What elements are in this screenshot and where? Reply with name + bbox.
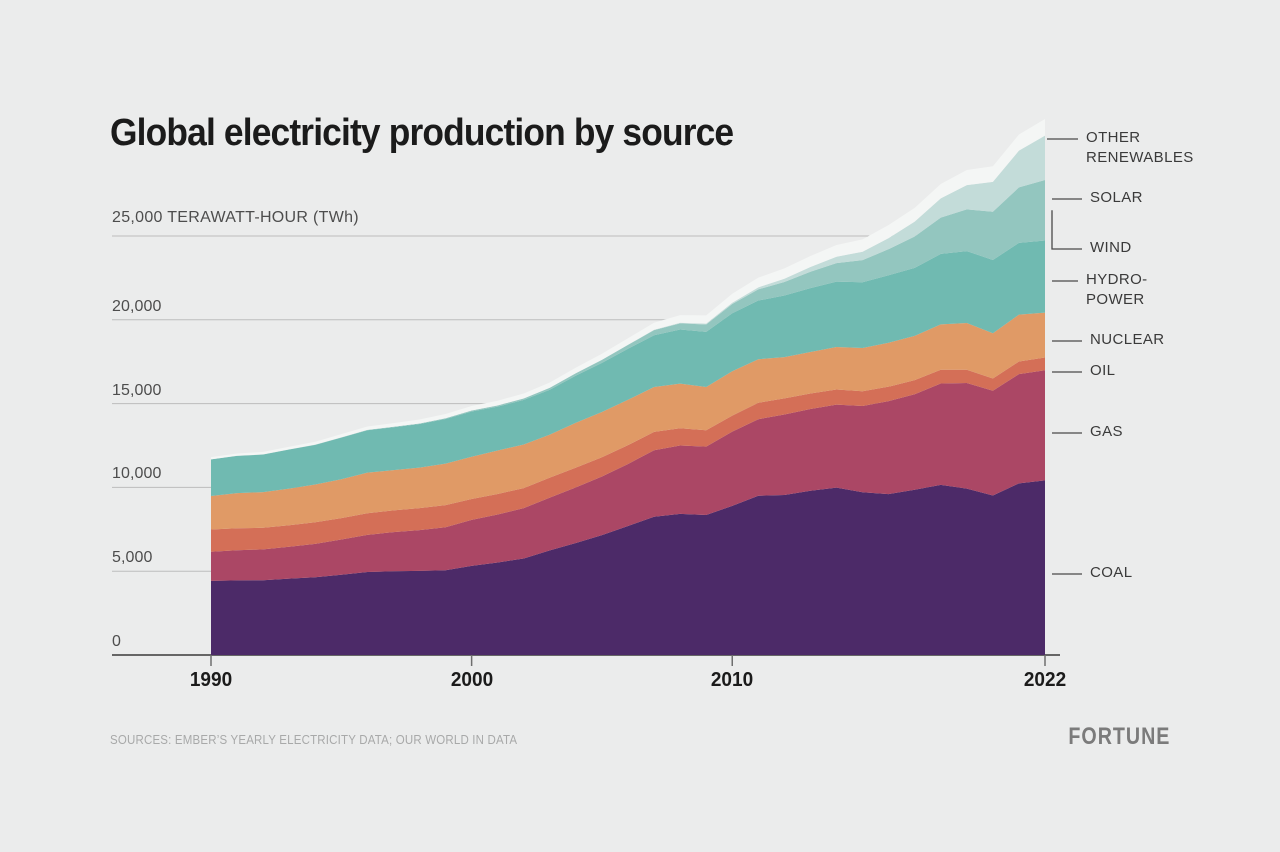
fortune-logo: FORTUNE bbox=[1068, 723, 1170, 751]
legend-label-nuclear[interactable]: NUCLEAR bbox=[1090, 330, 1164, 350]
y-tick-15000: 15,000 bbox=[112, 382, 162, 400]
x-tick-2022: 2022 bbox=[1024, 669, 1066, 692]
legend-label-other-renewables[interactable]: OTHER RENEWABLES bbox=[1086, 128, 1194, 168]
y-tick-5000: 5,000 bbox=[112, 549, 153, 567]
legend-label-gas[interactable]: GAS bbox=[1090, 422, 1123, 442]
sources-note: SOURCES: EMBER’S YEARLY ELECTRICITY DATA… bbox=[110, 733, 517, 747]
y-tick-10000: 10,000 bbox=[112, 465, 162, 483]
x-tick-2000: 2000 bbox=[450, 669, 492, 692]
legend-label-hydropower[interactable]: HYDRO- POWER bbox=[1086, 270, 1148, 310]
legend-label-coal[interactable]: COAL bbox=[1090, 563, 1132, 583]
legend-label-solar[interactable]: SOLAR bbox=[1090, 188, 1143, 208]
x-tick-marks bbox=[211, 655, 1045, 666]
legend-connectors bbox=[1047, 139, 1082, 574]
x-tick-2010: 2010 bbox=[711, 669, 753, 692]
legend-label-oil[interactable]: OIL bbox=[1090, 361, 1115, 381]
x-tick-1990: 1990 bbox=[190, 669, 232, 692]
y-tick-20000: 20,000 bbox=[112, 298, 162, 316]
y-tick-0: 0 bbox=[112, 633, 121, 651]
y-axis-unit-label: 25,000 TERAWATT-HOUR (TWh) bbox=[112, 209, 359, 227]
area-series bbox=[211, 119, 1045, 655]
chart-canvas: Global electricity production by source … bbox=[0, 0, 1280, 852]
legend-label-wind[interactable]: WIND bbox=[1090, 238, 1132, 258]
